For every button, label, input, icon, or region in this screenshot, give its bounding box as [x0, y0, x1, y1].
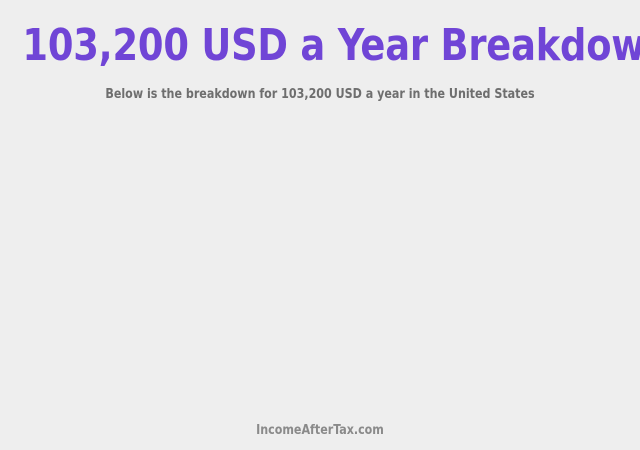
- chart-plot-area: [0, 102, 640, 423]
- header: 103,200 USD a Year Breakdown Below is th…: [0, 0, 640, 102]
- page-root: 103,200 USD a Year Breakdown Below is th…: [0, 0, 640, 450]
- page-subtitle: Below is the breakdown for 103,200 USD a…: [16, 68, 624, 102]
- site-watermark: IncomeAfterTax.com: [16, 423, 624, 438]
- page-title: 103,200 USD a Year Breakdown: [22, 24, 617, 68]
- footer: IncomeAfterTax.com: [0, 423, 640, 450]
